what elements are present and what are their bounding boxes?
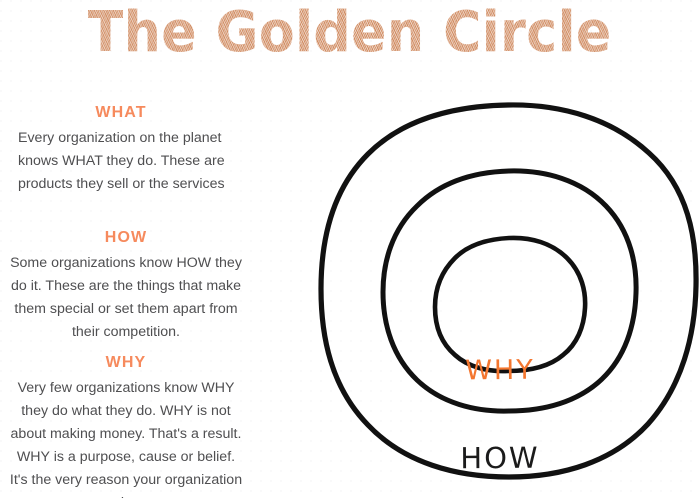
- golden-circle-poster: The Golden Circle WHAT Every organizatio…: [0, 0, 700, 498]
- page-title: The Golden Circle: [88, 2, 612, 64]
- ring-label-why: WHY: [300, 354, 700, 388]
- block-body-why: Very few organizations know WHY they do …: [8, 377, 244, 498]
- page-title-container: The Golden Circle: [0, 2, 700, 74]
- text-block-how: HOW Some organizations know HOW they do …: [8, 228, 244, 344]
- ring-outer-path: [321, 105, 696, 477]
- block-heading-how: HOW: [8, 228, 244, 248]
- ring-label-how: HOW: [300, 441, 700, 476]
- ring-inner-path: [435, 238, 585, 371]
- concentric-circles-svg: [300, 86, 700, 498]
- block-body-how: Some organizations know HOW they do it. …: [8, 252, 244, 344]
- block-body-what: Every organization on the planet knows W…: [8, 127, 244, 196]
- golden-circle-diagram: WHY HOW WHAT: [300, 86, 700, 498]
- text-block-why: WHY Very few organizations know WHY they…: [8, 353, 244, 498]
- block-heading-why: WHY: [8, 353, 244, 373]
- block-heading-what: WHAT: [8, 103, 244, 123]
- text-block-what: WHAT Every organization on the planet kn…: [8, 103, 244, 196]
